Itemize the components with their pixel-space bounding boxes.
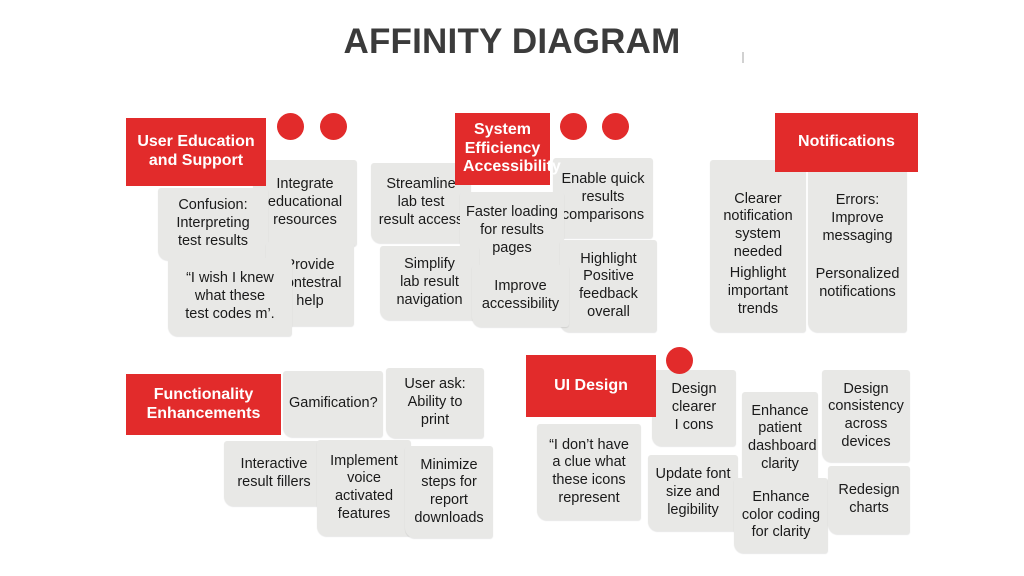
note-text: Streamline lab test result access bbox=[377, 176, 465, 229]
category-label: User Education and Support bbox=[134, 133, 258, 171]
note-card: Highlight important trends bbox=[710, 160, 806, 332]
red-dot-icon bbox=[602, 113, 629, 140]
note-text: Interactive result fillers bbox=[230, 456, 318, 491]
note-text: User ask: Ability to print bbox=[392, 376, 478, 429]
note-text: Minimize steps for report downloads bbox=[411, 457, 487, 528]
note-text: Integrate educational resources bbox=[259, 176, 351, 229]
red-dot-icon bbox=[320, 113, 347, 140]
note-text: Improve accessibility bbox=[478, 278, 563, 313]
note-card[interactable]: Minimize steps for report downloads bbox=[405, 446, 493, 538]
note-card[interactable]: Integrate educational resources bbox=[253, 160, 357, 246]
note-card[interactable]: “I wish I knew what these test codes m’. bbox=[168, 258, 292, 336]
note-card[interactable]: Highlight Positive feedback overall bbox=[560, 240, 657, 332]
note-card[interactable]: Design clearer I cons bbox=[652, 370, 736, 446]
note-text: Update font size and legibility bbox=[654, 466, 732, 519]
note-text: Faster loading for results pages bbox=[466, 204, 558, 257]
note-card[interactable]: User ask: Ability to print bbox=[386, 368, 484, 438]
note-card[interactable]: Design consistency across devices bbox=[822, 370, 910, 462]
category-label: Notifications bbox=[783, 133, 910, 152]
red-dot-icon bbox=[277, 113, 304, 140]
note-card[interactable]: Gamification? bbox=[283, 371, 383, 437]
note-text: Design clearer I cons bbox=[658, 381, 730, 434]
note-card[interactable]: Simplify lab result navigation bbox=[380, 246, 479, 320]
note-text: Enhance patient dashboard clarity bbox=[748, 403, 812, 474]
note-text: Implement voice activated features bbox=[323, 453, 405, 524]
category-header[interactable]: User Education and Support bbox=[126, 118, 266, 186]
note-card[interactable]: Confusion: Interpreting test results bbox=[158, 188, 268, 260]
note-card[interactable]: Redesign charts bbox=[828, 466, 910, 534]
note-card[interactable]: Update font size and legibility bbox=[648, 455, 738, 531]
note-text: Enable quick results comparisons bbox=[559, 171, 647, 224]
note-text: Enhance color coding for clarity bbox=[740, 489, 822, 542]
category-label: UI Design bbox=[534, 377, 648, 396]
note-card[interactable]: Improve accessibility bbox=[472, 265, 569, 327]
note-text: “I don’t have a clue what these icons re… bbox=[543, 437, 635, 508]
note-card[interactable]: Interactive result fillers bbox=[224, 441, 324, 506]
category-label: System Efficiency Accessibility bbox=[463, 121, 542, 178]
note-text: Gamification? bbox=[289, 395, 377, 413]
title-artifact-mark bbox=[742, 52, 744, 63]
category-label: Functionality Enhancements bbox=[134, 386, 273, 424]
red-dot-icon bbox=[666, 347, 693, 374]
category-header[interactable]: Functionality Enhancements bbox=[126, 374, 281, 435]
page-title: AFFINITY DIAGRAM bbox=[0, 22, 1024, 62]
note-text: Highlight important trends bbox=[716, 265, 800, 318]
category-header[interactable]: UI Design bbox=[526, 355, 656, 417]
note-text: Redesign charts bbox=[834, 482, 904, 517]
red-dot-icon bbox=[560, 113, 587, 140]
note-text: Personalized notifications bbox=[814, 266, 901, 301]
category-header[interactable]: System Efficiency Accessibility bbox=[455, 113, 550, 185]
note-text: Highlight Positive feedback overall bbox=[566, 251, 651, 322]
note-text: Simplify lab result navigation bbox=[386, 256, 473, 309]
note-card[interactable]: Implement voice activated features bbox=[317, 440, 411, 536]
category-header[interactable]: Notifications bbox=[775, 113, 918, 172]
affinity-diagram-canvas: AFFINITY DIAGRAM Integrate educational r… bbox=[0, 0, 1024, 576]
note-card[interactable]: Enhance color coding for clarity bbox=[734, 478, 828, 553]
note-card: Personalized notifications bbox=[808, 160, 907, 332]
note-card[interactable]: Enhance patient dashboard clarity bbox=[742, 392, 818, 484]
note-text: Confusion: Interpreting test results bbox=[164, 197, 262, 250]
note-card[interactable]: Enable quick results comparisons bbox=[553, 158, 653, 238]
note-card[interactable]: “I don’t have a clue what these icons re… bbox=[537, 424, 641, 520]
note-text: Design consistency across devices bbox=[828, 381, 904, 452]
note-text: “I wish I knew what these test codes m’. bbox=[174, 270, 286, 323]
